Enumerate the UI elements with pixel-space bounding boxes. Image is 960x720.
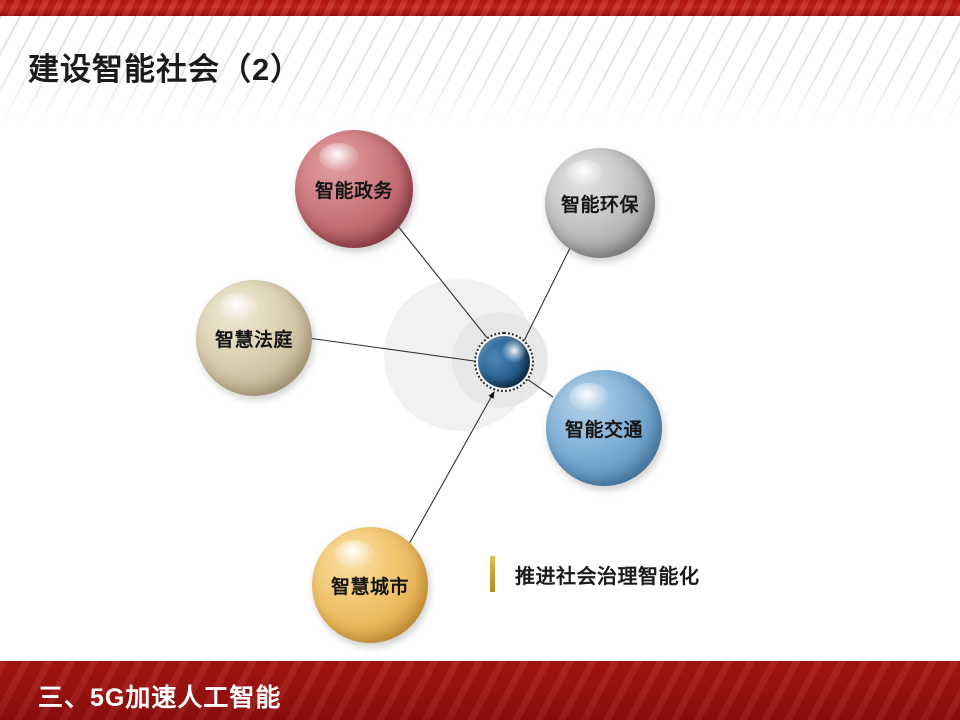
node-city-label: 智慧城市: [331, 572, 409, 599]
link-transport-hub: [527, 379, 553, 397]
page-title: 建设智能社会（2）: [28, 44, 302, 89]
link-eco-hub: [519, 240, 574, 351]
caption-block: 推进社会治理智能化: [490, 556, 700, 592]
node-eco[interactable]: 智能环保: [545, 148, 655, 258]
node-transport-label: 智能交通: [565, 415, 643, 442]
node-egov-label: 智能政务: [315, 176, 393, 203]
hub-core-sphere[interactable]: [478, 336, 530, 388]
link-court-hub: [308, 338, 474, 361]
node-court[interactable]: 智慧法庭: [196, 280, 312, 396]
hub-spoke-diagram: 智能政务 智能环保 智慧法庭 智能交通 智慧城市 推进社会治理智能化: [0, 120, 960, 640]
node-court-label: 智慧法庭: [215, 325, 293, 352]
top-red-bar: [0, 0, 960, 16]
node-transport[interactable]: 智能交通: [546, 370, 662, 486]
slide-canvas: 建设智能社会（2） 智能政务 智能环保: [0, 0, 960, 720]
footer-section-label: 三、5G加速人工智能: [38, 678, 281, 714]
caption-accent-bar: [490, 556, 495, 592]
node-eco-label: 智能环保: [561, 190, 639, 217]
link-city-hub: [409, 392, 494, 544]
link-egov-hub: [397, 225, 496, 349]
caption-text: 推进社会治理智能化: [515, 560, 700, 589]
node-city[interactable]: 智慧城市: [312, 527, 428, 643]
node-egov[interactable]: 智能政务: [295, 130, 413, 248]
